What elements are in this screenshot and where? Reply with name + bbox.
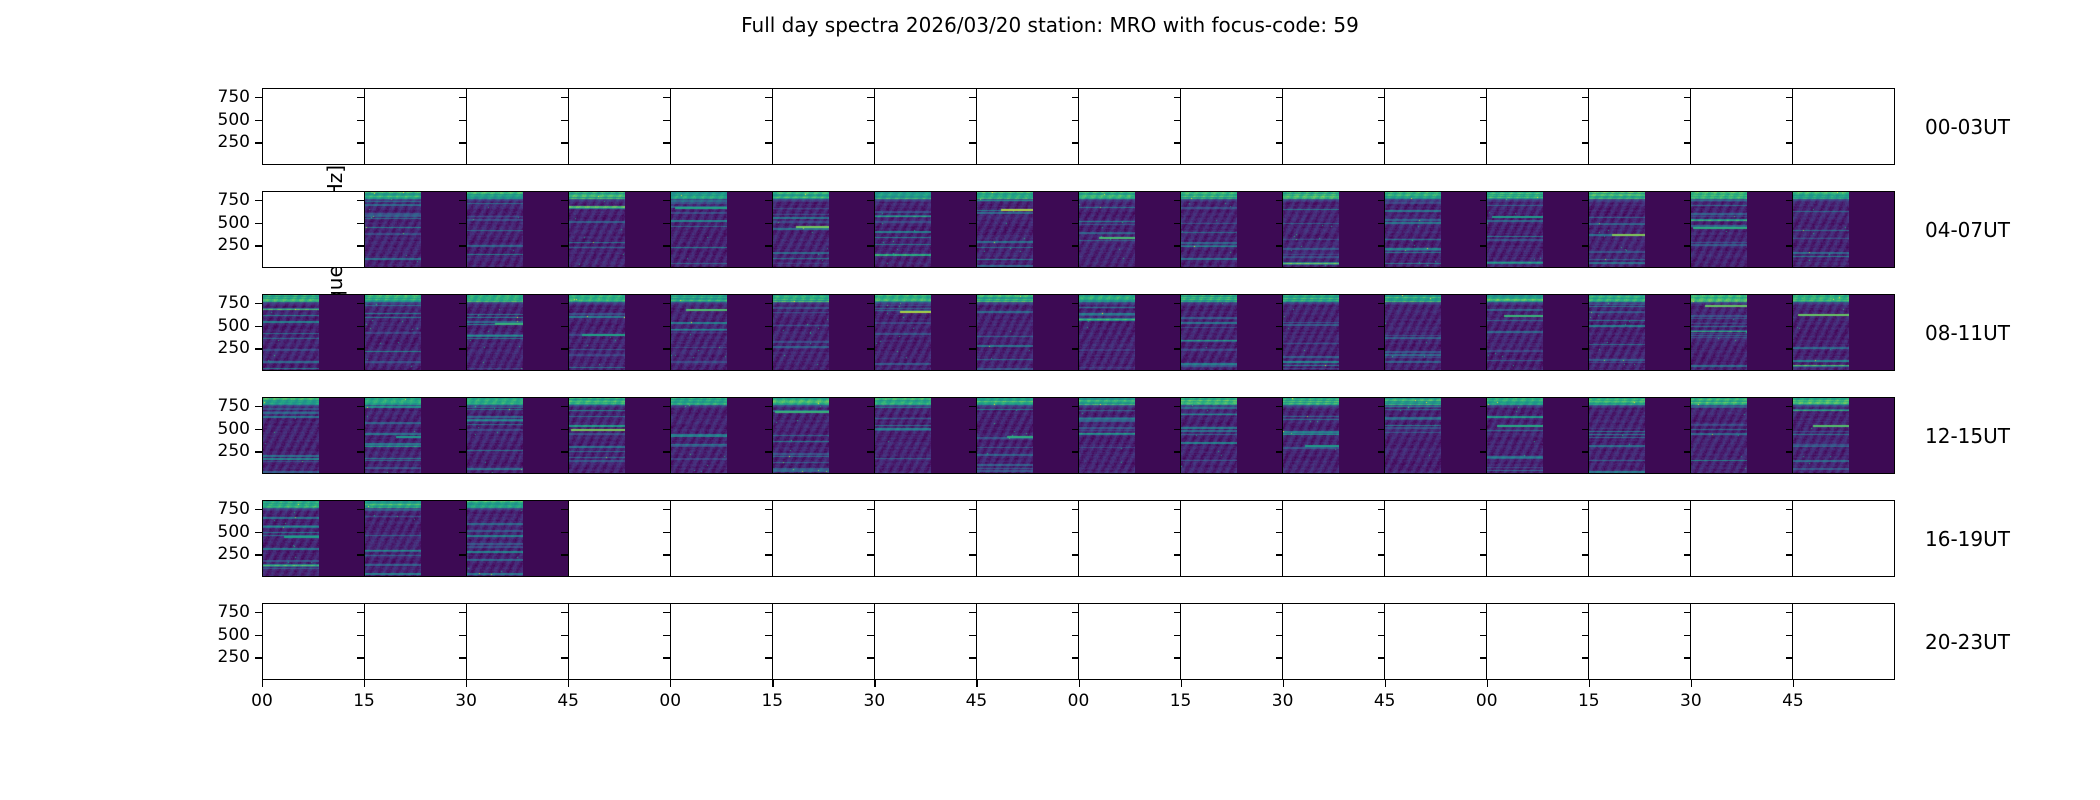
- y-tick-mark: [867, 223, 874, 224]
- x-tick-mark: [1283, 680, 1284, 687]
- spectrogram-panel: [466, 191, 569, 268]
- y-tick-mark: [1582, 348, 1589, 349]
- row-label-04-07ut: 04-07UT: [1925, 218, 2010, 242]
- y-tick-mark: [663, 326, 670, 327]
- spectrogram-panel-empty: [1384, 500, 1487, 577]
- y-tick-mark: [969, 245, 976, 246]
- y-tick-mark: [459, 142, 466, 143]
- x-tick-label: 15: [1566, 691, 1612, 711]
- spectrogram-image: [1793, 295, 1849, 371]
- y-tick-mark: [765, 303, 772, 304]
- spectrogram-panel-empty: [772, 603, 875, 680]
- y-tick-label: 500: [190, 213, 250, 233]
- y-tick-mark: [1786, 245, 1793, 246]
- y-tick-mark: [1072, 245, 1079, 246]
- spectrogram-panel-empty: [874, 88, 977, 165]
- spectrogram-panel-empty: [364, 603, 467, 680]
- y-tick-label: 250: [190, 235, 250, 255]
- y-tick-mark: [255, 451, 262, 452]
- x-tick-mark: [1691, 680, 1692, 687]
- y-tick-mark: [969, 451, 976, 452]
- spectrogram-image: [1385, 192, 1441, 268]
- y-tick-mark: [1684, 245, 1691, 246]
- y-tick-mark: [1276, 429, 1283, 430]
- spectrogram-panel: [1384, 294, 1487, 371]
- y-tick-mark: [1378, 612, 1385, 613]
- x-tick-mark: [1385, 680, 1386, 687]
- y-tick-mark: [459, 97, 466, 98]
- y-tick-mark: [1174, 223, 1181, 224]
- y-tick-mark: [255, 612, 262, 613]
- y-tick-mark: [459, 245, 466, 246]
- spectrogram-row-04-07ut: [262, 191, 1895, 268]
- y-tick-mark: [1174, 200, 1181, 201]
- spectrogram-panel-empty: [1078, 603, 1181, 680]
- y-tick-mark: [1582, 406, 1589, 407]
- x-tick-label: 15: [341, 691, 387, 711]
- spectrogram-image: [1283, 398, 1339, 474]
- y-tick-mark: [1684, 142, 1691, 143]
- spectrogram-image: [365, 398, 421, 474]
- spectrogram-panel-empty: [1078, 500, 1181, 577]
- y-tick-mark: [1378, 451, 1385, 452]
- y-tick-mark: [255, 97, 262, 98]
- y-tick-mark: [1480, 97, 1487, 98]
- y-tick-mark: [765, 509, 772, 510]
- y-tick-mark: [1480, 532, 1487, 533]
- spectrogram-image: [1385, 398, 1441, 474]
- y-tick-mark: [1072, 142, 1079, 143]
- spectrogram-row-00-03ut: [262, 88, 1895, 165]
- spectrogram-image: [365, 192, 421, 268]
- y-tick-mark: [1684, 200, 1691, 201]
- spectrogram-image: [875, 398, 931, 474]
- y-tick-mark: [663, 303, 670, 304]
- spectrogram-panel-empty: [1384, 88, 1487, 165]
- y-tick-mark: [357, 532, 364, 533]
- y-tick-mark: [765, 554, 772, 555]
- x-tick-mark: [1589, 680, 1590, 687]
- x-tick-mark: [874, 680, 875, 687]
- y-tick-mark: [663, 245, 670, 246]
- spectrogram-panel-empty: [670, 603, 773, 680]
- y-tick-label: 250: [190, 647, 250, 667]
- y-tick-mark: [459, 635, 466, 636]
- y-tick-mark: [1174, 635, 1181, 636]
- spectrogram-panel-empty: [364, 88, 467, 165]
- y-tick-mark: [867, 429, 874, 430]
- y-tick-mark: [1480, 406, 1487, 407]
- spectrogram-panel: [568, 191, 671, 268]
- y-tick-mark: [1378, 554, 1385, 555]
- spectrogram-image: [467, 398, 523, 474]
- y-tick-mark: [765, 429, 772, 430]
- y-tick-mark: [765, 612, 772, 613]
- y-tick-mark: [1684, 348, 1691, 349]
- y-tick-mark: [1378, 532, 1385, 533]
- y-tick-mark: [867, 451, 874, 452]
- y-tick-mark: [561, 120, 568, 121]
- y-tick-mark: [867, 554, 874, 555]
- row-label-00-03ut: 00-03UT: [1925, 115, 2010, 139]
- y-tick-mark: [1786, 532, 1793, 533]
- spectrogram-panel-empty: [1486, 500, 1589, 577]
- spectrogram-panel: [976, 191, 1079, 268]
- spectrogram-image: [569, 398, 625, 474]
- spectrogram-image: [875, 295, 931, 371]
- y-tick-mark: [867, 120, 874, 121]
- y-tick-mark: [765, 406, 772, 407]
- y-tick-mark: [459, 326, 466, 327]
- spectrogram-panel: [1282, 294, 1385, 371]
- y-tick-label: 250: [190, 544, 250, 564]
- y-tick-mark: [1786, 142, 1793, 143]
- spectrogram-image: [263, 398, 319, 474]
- y-tick-mark: [663, 142, 670, 143]
- y-tick-mark: [1072, 406, 1079, 407]
- spectrogram-row-16-19ut: [262, 500, 1895, 577]
- y-tick-mark: [663, 200, 670, 201]
- y-tick-mark: [357, 245, 364, 246]
- y-tick-mark: [1174, 554, 1181, 555]
- spectrogram-panel-empty: [670, 500, 773, 577]
- y-tick-mark: [1276, 142, 1283, 143]
- y-tick-mark: [561, 97, 568, 98]
- y-tick-mark: [1480, 223, 1487, 224]
- y-tick-mark: [1786, 509, 1793, 510]
- y-tick-mark: [1378, 245, 1385, 246]
- y-tick-mark: [867, 245, 874, 246]
- spectrogram-panel: [262, 500, 365, 577]
- spectrogram-panel-empty: [1690, 500, 1793, 577]
- spectrogram-panel: [568, 397, 671, 474]
- spectrogram-panel-empty: [1282, 88, 1385, 165]
- y-tick-mark: [1378, 635, 1385, 636]
- spectrogram-image: [1181, 398, 1237, 474]
- y-tick-mark: [561, 406, 568, 407]
- spectrogram-image: [671, 398, 727, 474]
- spectrogram-panel-empty: [874, 500, 977, 577]
- spectrogram-panel-empty: [1486, 603, 1589, 680]
- spectrogram-image: [1181, 192, 1237, 268]
- x-tick-mark: [1487, 680, 1488, 687]
- y-tick-label: 500: [190, 522, 250, 542]
- spectrogram-image: [569, 295, 625, 371]
- y-tick-mark: [1378, 200, 1385, 201]
- y-tick-mark: [1276, 223, 1283, 224]
- x-tick-label: 45: [1362, 691, 1408, 711]
- spectrogram-panel-empty: [772, 88, 875, 165]
- y-tick-mark: [1786, 657, 1793, 658]
- spectrogram-panel-empty: [1486, 88, 1589, 165]
- y-tick-mark: [765, 142, 772, 143]
- row-label-12-15ut: 12-15UT: [1925, 424, 2010, 448]
- spectrogram-panel-empty: [1690, 88, 1793, 165]
- y-tick-mark: [969, 348, 976, 349]
- y-tick-mark: [867, 657, 874, 658]
- y-tick-mark: [1480, 635, 1487, 636]
- y-tick-mark: [1276, 554, 1283, 555]
- spectrogram-panel: [1690, 397, 1793, 474]
- y-tick-mark: [1786, 348, 1793, 349]
- y-tick-mark: [663, 554, 670, 555]
- spectrogram-image: [1079, 192, 1135, 268]
- y-tick-mark: [561, 612, 568, 613]
- y-tick-mark: [1072, 200, 1079, 201]
- y-tick-mark: [663, 406, 670, 407]
- y-tick-mark: [1378, 429, 1385, 430]
- spectrogram-image: [1283, 295, 1339, 371]
- y-tick-mark: [1582, 326, 1589, 327]
- spectrogram-panel: [772, 294, 875, 371]
- y-tick-mark: [1684, 554, 1691, 555]
- spectrogram-panel-empty: [1792, 88, 1895, 165]
- spectrogram-panel-empty: [670, 88, 773, 165]
- y-tick-mark: [1480, 303, 1487, 304]
- y-tick-mark: [1378, 120, 1385, 121]
- y-tick-mark: [255, 200, 262, 201]
- y-tick-mark: [1378, 303, 1385, 304]
- y-tick-mark: [1480, 120, 1487, 121]
- y-tick-mark: [1072, 451, 1079, 452]
- y-tick-mark: [255, 657, 262, 658]
- y-tick-label: 500: [190, 419, 250, 439]
- x-tick-mark: [772, 680, 773, 687]
- y-tick-mark: [561, 245, 568, 246]
- y-tick-mark: [765, 451, 772, 452]
- x-tick-label: 30: [851, 691, 897, 711]
- spectrogram-panel-empty: [1792, 603, 1895, 680]
- spectrogram-image: [1691, 192, 1747, 268]
- x-tick-label: 00: [1464, 691, 1510, 711]
- y-tick-mark: [561, 142, 568, 143]
- spectrogram-figure: Full day spectra 2026/03/20 station: MRO…: [0, 0, 2100, 800]
- y-tick-mark: [561, 635, 568, 636]
- y-tick-mark: [1684, 635, 1691, 636]
- y-tick-mark: [357, 635, 364, 636]
- y-tick-mark: [561, 554, 568, 555]
- y-tick-mark: [1480, 451, 1487, 452]
- spectrogram-panel-empty: [1180, 88, 1283, 165]
- x-tick-label: 15: [749, 691, 795, 711]
- spectrogram-panel-empty: [262, 603, 365, 680]
- y-tick-mark: [1582, 657, 1589, 658]
- y-tick-mark: [357, 429, 364, 430]
- y-tick-mark: [255, 120, 262, 121]
- spectrogram-panel: [1588, 294, 1691, 371]
- y-tick-mark: [1786, 451, 1793, 452]
- x-tick-mark: [364, 680, 365, 687]
- y-tick-mark: [1582, 223, 1589, 224]
- y-tick-mark: [1072, 612, 1079, 613]
- spectrogram-panel: [1384, 191, 1487, 268]
- spectrogram-panel: [1486, 397, 1589, 474]
- spectrogram-image: [1589, 398, 1645, 474]
- y-tick-mark: [561, 303, 568, 304]
- y-tick-mark: [357, 97, 364, 98]
- spectrogram-image: [1589, 295, 1645, 371]
- y-tick-mark: [561, 451, 568, 452]
- y-tick-mark: [1582, 97, 1589, 98]
- y-tick-mark: [357, 451, 364, 452]
- row-label-20-23ut: 20-23UT: [1925, 630, 2010, 654]
- y-tick-mark: [1684, 223, 1691, 224]
- spectrogram-panel: [364, 294, 467, 371]
- spectrogram-panel-empty: [1792, 500, 1895, 577]
- y-tick-mark: [867, 142, 874, 143]
- y-tick-mark: [765, 120, 772, 121]
- spectrogram-panel: [1180, 191, 1283, 268]
- y-tick-mark: [459, 451, 466, 452]
- y-tick-mark: [1276, 451, 1283, 452]
- y-tick-mark: [459, 120, 466, 121]
- y-tick-mark: [1684, 451, 1691, 452]
- y-tick-mark: [1480, 554, 1487, 555]
- y-tick-mark: [1378, 97, 1385, 98]
- x-tick-mark: [466, 680, 467, 687]
- y-tick-mark: [867, 532, 874, 533]
- y-tick-mark: [1378, 326, 1385, 327]
- y-tick-mark: [765, 245, 772, 246]
- x-tick-label: 45: [953, 691, 999, 711]
- y-tick-mark: [459, 303, 466, 304]
- y-tick-mark: [867, 97, 874, 98]
- y-tick-mark: [1276, 509, 1283, 510]
- x-tick-mark: [976, 680, 977, 687]
- spectrogram-image: [467, 501, 523, 577]
- y-tick-mark: [1174, 532, 1181, 533]
- y-tick-mark: [357, 223, 364, 224]
- spectrogram-image: [875, 192, 931, 268]
- y-tick-mark: [255, 635, 262, 636]
- y-tick-mark: [1684, 326, 1691, 327]
- y-tick-mark: [1072, 657, 1079, 658]
- y-tick-mark: [1276, 303, 1283, 304]
- spectrogram-image: [671, 295, 727, 371]
- y-tick-mark: [969, 303, 976, 304]
- y-tick-mark: [969, 120, 976, 121]
- y-tick-mark: [1684, 303, 1691, 304]
- y-tick-mark: [1072, 97, 1079, 98]
- y-tick-mark: [867, 635, 874, 636]
- y-tick-mark: [459, 509, 466, 510]
- y-tick-mark: [1174, 120, 1181, 121]
- spectrogram-image: [773, 398, 829, 474]
- y-tick-label: 750: [190, 293, 250, 313]
- y-tick-mark: [867, 303, 874, 304]
- spectrogram-image: [1181, 295, 1237, 371]
- y-tick-label: 750: [190, 190, 250, 210]
- x-tick-label: 00: [239, 691, 285, 711]
- y-tick-mark: [1684, 532, 1691, 533]
- spectrogram-image: [1385, 295, 1441, 371]
- spectrogram-image: [1079, 295, 1135, 371]
- x-tick-label: 15: [1158, 691, 1204, 711]
- spectrogram-panel-empty: [568, 603, 671, 680]
- y-tick-mark: [1582, 451, 1589, 452]
- y-tick-mark: [765, 200, 772, 201]
- y-tick-mark: [1684, 429, 1691, 430]
- y-tick-label: 750: [190, 396, 250, 416]
- spectrogram-panel-empty: [1384, 603, 1487, 680]
- spectrogram-image: [1487, 295, 1543, 371]
- y-tick-mark: [1786, 429, 1793, 430]
- spectrogram-panel-empty: [1180, 603, 1283, 680]
- y-tick-mark: [255, 509, 262, 510]
- y-tick-mark: [969, 509, 976, 510]
- x-tick-label: 30: [1668, 691, 1714, 711]
- y-tick-mark: [459, 223, 466, 224]
- y-tick-mark: [1786, 612, 1793, 613]
- y-tick-mark: [1276, 245, 1283, 246]
- y-tick-mark: [1786, 406, 1793, 407]
- y-tick-mark: [1582, 120, 1589, 121]
- spectrogram-panel: [1792, 294, 1895, 371]
- y-tick-mark: [357, 657, 364, 658]
- y-tick-mark: [561, 657, 568, 658]
- y-tick-mark: [459, 200, 466, 201]
- spectrogram-panel-empty: [466, 88, 569, 165]
- spectrogram-panel-empty: [262, 88, 365, 165]
- y-tick-mark: [1276, 612, 1283, 613]
- y-tick-mark: [1582, 635, 1589, 636]
- y-tick-mark: [1072, 303, 1079, 304]
- spectrogram-panel: [1282, 191, 1385, 268]
- spectrogram-image: [773, 192, 829, 268]
- spectrogram-panel: [1486, 294, 1589, 371]
- y-tick-mark: [1276, 532, 1283, 533]
- spectrogram-image: [1283, 192, 1339, 268]
- y-tick-mark: [1174, 326, 1181, 327]
- spectrogram-panel-empty: [262, 191, 365, 268]
- y-tick-mark: [969, 657, 976, 658]
- y-tick-mark: [1276, 657, 1283, 658]
- spectrogram-image: [1487, 192, 1543, 268]
- y-tick-mark: [1174, 245, 1181, 246]
- y-tick-mark: [1378, 406, 1385, 407]
- y-tick-mark: [1276, 120, 1283, 121]
- spectrogram-panel: [466, 500, 569, 577]
- y-tick-mark: [459, 406, 466, 407]
- y-tick-mark: [255, 429, 262, 430]
- y-tick-mark: [1072, 635, 1079, 636]
- y-tick-mark: [1786, 223, 1793, 224]
- y-tick-mark: [765, 532, 772, 533]
- x-tick-mark: [670, 680, 671, 687]
- spectrogram-panel-empty: [772, 500, 875, 577]
- y-tick-mark: [1072, 326, 1079, 327]
- y-tick-label: 750: [190, 602, 250, 622]
- y-tick-mark: [663, 120, 670, 121]
- y-tick-mark: [1480, 612, 1487, 613]
- spectrogram-panel: [976, 294, 1079, 371]
- y-tick-mark: [969, 97, 976, 98]
- y-tick-mark: [1786, 120, 1793, 121]
- spectrogram-panel: [976, 397, 1079, 474]
- y-tick-mark: [255, 348, 262, 349]
- y-tick-mark: [663, 532, 670, 533]
- y-tick-mark: [1174, 97, 1181, 98]
- y-tick-mark: [663, 509, 670, 510]
- y-tick-mark: [357, 509, 364, 510]
- spectrogram-image: [1487, 398, 1543, 474]
- y-tick-mark: [1174, 451, 1181, 452]
- spectrogram-image: [263, 501, 319, 577]
- spectrogram-panel: [1078, 191, 1181, 268]
- y-tick-mark: [1786, 97, 1793, 98]
- spectrogram-image: [365, 501, 421, 577]
- y-tick-mark: [867, 348, 874, 349]
